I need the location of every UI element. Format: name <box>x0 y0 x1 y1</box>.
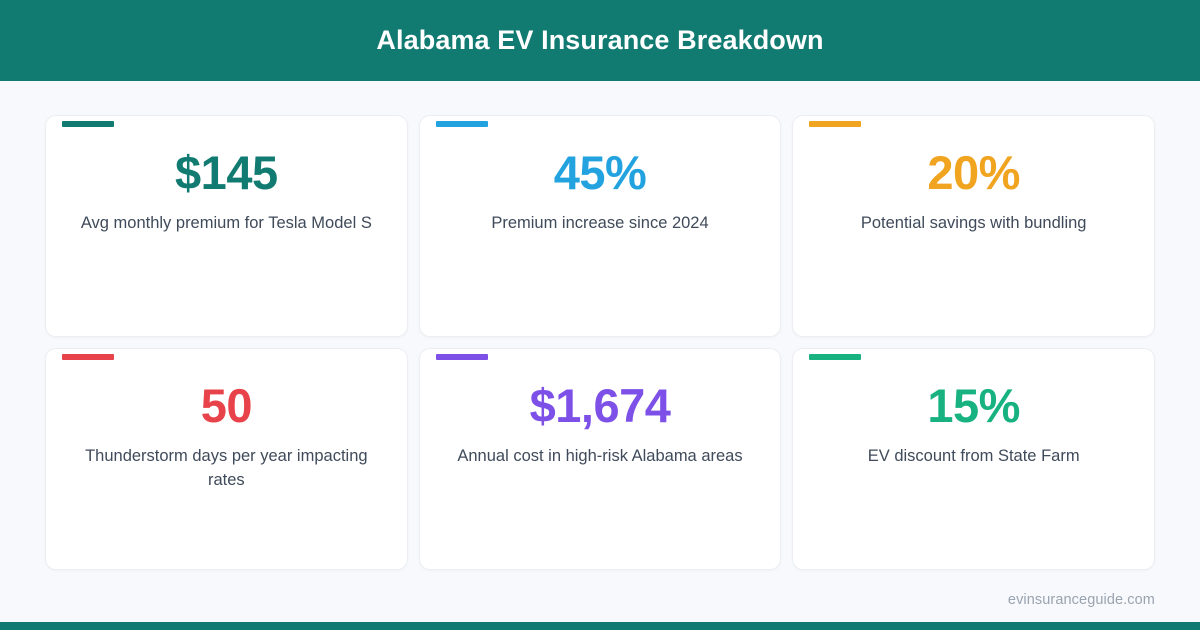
stat-value: 45% <box>436 148 765 197</box>
stat-label: Premium increase since 2024 <box>436 212 765 236</box>
stat-label: EV discount from State Farm <box>809 445 1138 469</box>
stat-card: 20% Potential savings with bundling <box>792 115 1155 337</box>
accent-bar <box>62 354 114 360</box>
accent-bar <box>436 354 488 360</box>
stat-label: Avg monthly premium for Tesla Model S <box>62 212 391 236</box>
stats-grid-wrapper: $145 Avg monthly premium for Tesla Model… <box>0 81 1200 578</box>
page-title: Alabama EV Insurance Breakdown <box>376 26 823 56</box>
stat-label: Potential savings with bundling <box>809 212 1138 236</box>
source-watermark: evinsuranceguide.com <box>1008 592 1155 608</box>
footer-accent-bar <box>0 622 1200 630</box>
accent-bar <box>436 121 488 127</box>
infographic-root: Alabama EV Insurance Breakdown $145 Avg … <box>0 0 1200 630</box>
stats-grid: $145 Avg monthly premium for Tesla Model… <box>45 115 1155 570</box>
stat-card: $1,674 Annual cost in high-risk Alabama … <box>419 348 782 570</box>
stat-card: 50 Thunderstorm days per year impacting … <box>45 348 408 570</box>
stat-value: $145 <box>62 148 391 197</box>
accent-bar <box>62 121 114 127</box>
stat-label: Thunderstorm days per year impacting rat… <box>62 445 391 493</box>
header-banner: Alabama EV Insurance Breakdown <box>0 0 1200 81</box>
stat-value: $1,674 <box>436 381 765 430</box>
accent-bar <box>809 354 861 360</box>
accent-bar <box>809 121 861 127</box>
stat-card: 45% Premium increase since 2024 <box>419 115 782 337</box>
stat-value: 50 <box>62 381 391 430</box>
stat-value: 20% <box>809 148 1138 197</box>
stat-card: 15% EV discount from State Farm <box>792 348 1155 570</box>
stat-value: 15% <box>809 381 1138 430</box>
stat-label: Annual cost in high-risk Alabama areas <box>436 445 765 469</box>
stat-card: $145 Avg monthly premium for Tesla Model… <box>45 115 408 337</box>
